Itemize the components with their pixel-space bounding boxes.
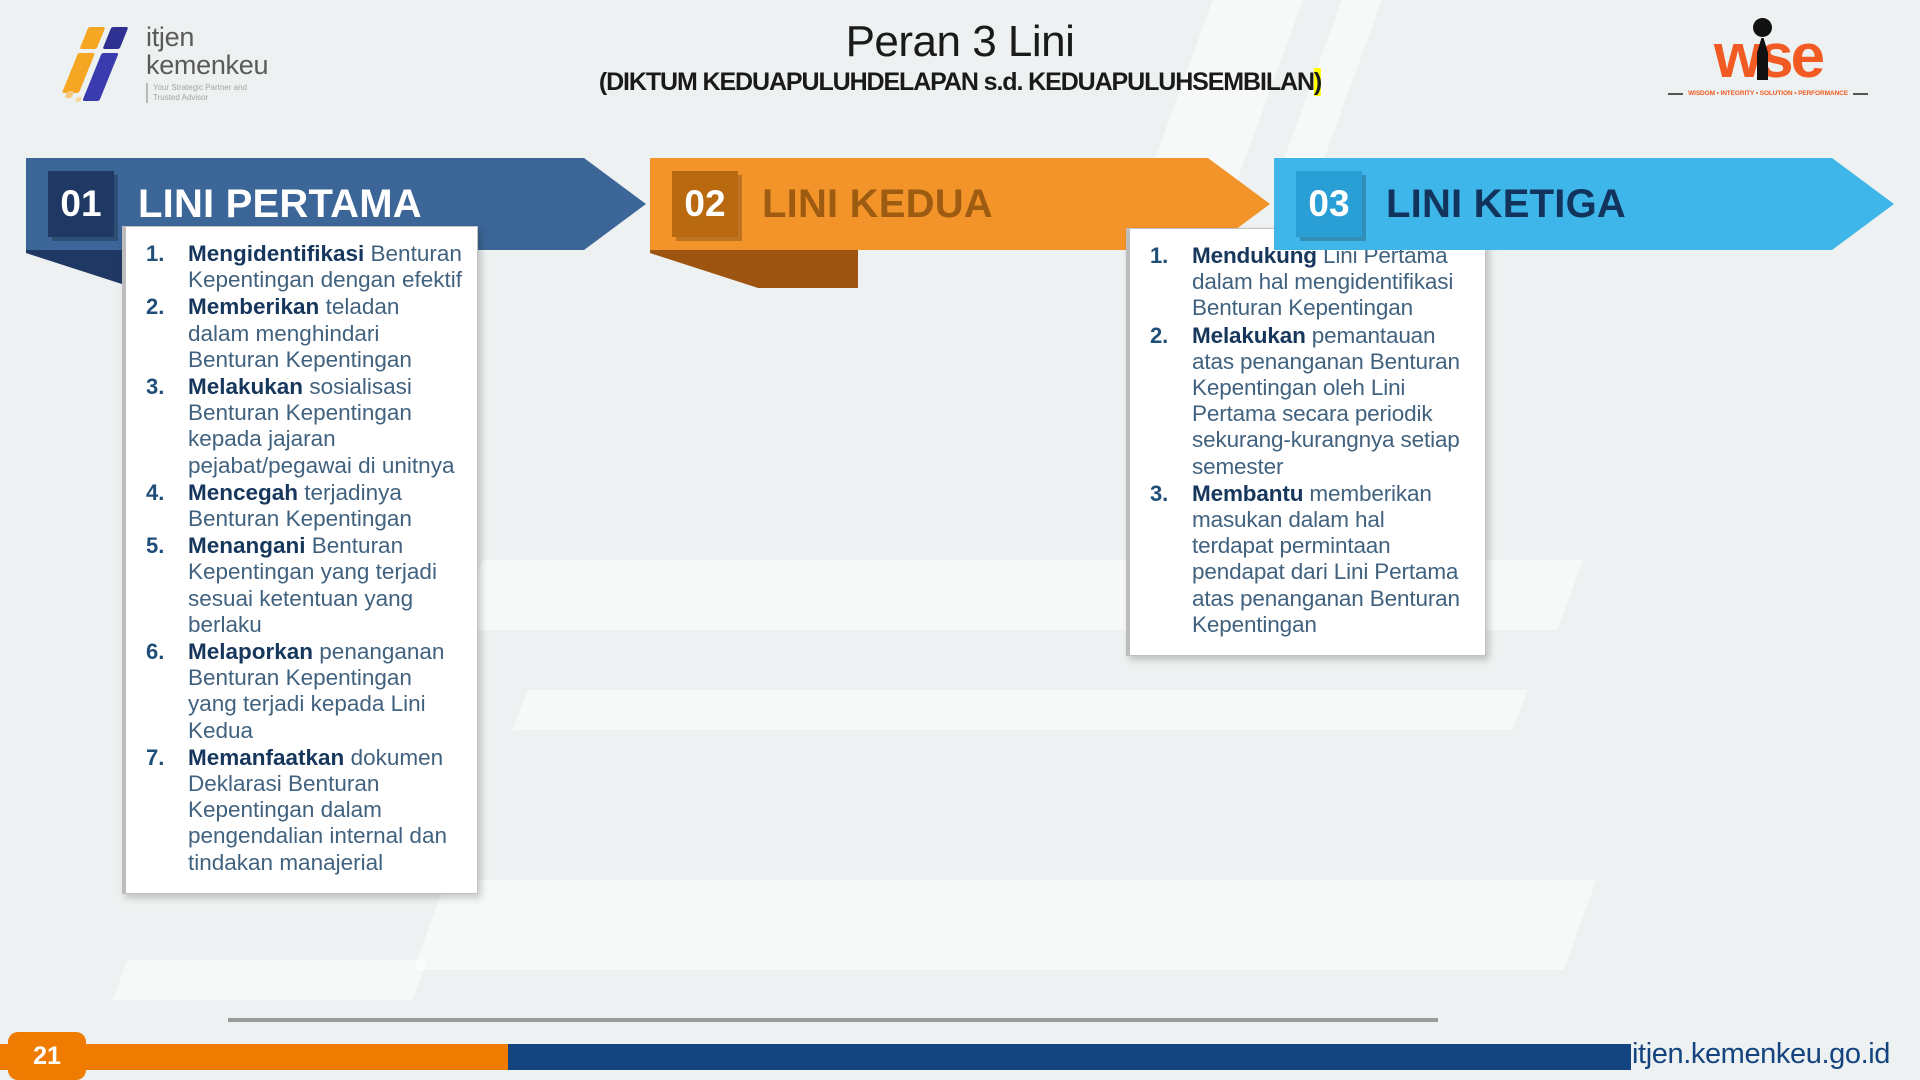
list-lini-kedua: Mendukung Lini Pertama dalam hal mengide…	[1134, 243, 1471, 638]
column-lini-ketiga: 03 LINI KETIGA Melakukan analisis, evalu…	[1274, 158, 1894, 250]
wise-tagline-text: WISDOM • INTEGRITY • SOLUTION • PERFORMA…	[1688, 90, 1848, 97]
banner-number-badge: 01	[48, 171, 114, 237]
itjen-kemenkeu-logo: itjen kemenkeu Your Strategic Partner an…	[62, 24, 268, 103]
list-item: Memberikan teladan dalam menghindari Ben…	[130, 294, 463, 373]
footer-divider	[228, 1018, 1438, 1022]
logo-line-1: itjen	[146, 24, 268, 52]
logo-tagline-line-1: Your Strategic Partner and	[153, 83, 268, 93]
list-item-lead: Membantu	[1192, 481, 1303, 506]
list-item: Mengidentifikasi Benturan Kepentingan de…	[130, 241, 463, 293]
page-subtitle: (DIKTUM KEDUAPULUHDELAPAN s.d. KEDUAPULU…	[599, 68, 1321, 97]
slide-header: itjen kemenkeu Your Strategic Partner an…	[0, 0, 1920, 132]
list-item: Memanfaatkan dokumen Deklarasi Benturan …	[130, 745, 463, 876]
logo-tagline: Your Strategic Partner and Trusted Advis…	[146, 83, 268, 103]
itjen-logo-wordmark: itjen kemenkeu Your Strategic Partner an…	[146, 24, 268, 103]
wise-logo: wse WISDOM • INTEGRITY • SOLUTION • PERF…	[1668, 26, 1868, 97]
page-title: Peran 3 Lini	[599, 18, 1321, 66]
column-lini-kedua: 02 LINI KEDUA Mendukung Lini Pertama dal…	[650, 158, 1270, 250]
logo-line-2: kemenkeu	[146, 52, 268, 80]
list-item: Melakukan pemantauan atas penanganan Ben…	[1134, 323, 1471, 480]
list-item-lead: Melaporkan	[188, 639, 313, 664]
list-item-lead: Melakukan	[1192, 323, 1306, 348]
slide-footer: 21 itjen.kemenkeu.go.id	[0, 1018, 1920, 1080]
list-item: Mencegah terjadinya Benturan Kepentingan	[130, 480, 463, 532]
list-item-lead: Memanfaatkan	[188, 745, 344, 770]
site-url: itjen.kemenkeu.go.id	[1632, 1038, 1890, 1071]
page-number-badge: 21	[8, 1032, 86, 1080]
page-subtitle-text: (DIKTUM KEDUAPULUHDELAPAN s.d. KEDUAPULU…	[599, 68, 1314, 96]
logo-tagline-line-2: Trusted Advisor	[153, 93, 268, 103]
list-item: Membantu memberikan masukan dalam hal te…	[1134, 481, 1471, 638]
itjen-logo-mark-icon	[62, 25, 132, 103]
list-item-lead: Memberikan	[188, 294, 319, 319]
list-item: Melakukan sosialisasi Benturan Kepenting…	[130, 374, 463, 479]
footer-bar-blue	[508, 1044, 1631, 1070]
banner-number-badge: 02	[672, 171, 738, 237]
banner-label: LINI KETIGA	[1386, 182, 1626, 227]
banner-lini-ketiga[interactable]: 03 LINI KETIGA	[1274, 158, 1894, 250]
wise-wordmark: wse	[1668, 26, 1868, 88]
banner-fold-decoration	[650, 250, 858, 288]
list-item: Mendukung Lini Pertama dalam hal mengide…	[1134, 243, 1471, 322]
page-subtitle-highlight: )	[1314, 68, 1321, 96]
list-item-lead: Melakukan	[188, 374, 303, 399]
column-lini-pertama: 01 LINI PERTAMA Mengidentifikasi Bentura…	[26, 158, 646, 250]
content-card-lini-kedua: Mendukung Lini Pertama dalam hal mengide…	[1126, 228, 1486, 656]
person-figure-icon	[1751, 18, 1773, 80]
list-item: Menangani Benturan Kepentingan yang terj…	[130, 533, 463, 638]
banner-number-badge: 03	[1296, 171, 1362, 237]
banner-label: LINI KEDUA	[762, 182, 993, 227]
title-block: Peran 3 Lini (DIKTUM KEDUAPULUHDELAPAN s…	[599, 18, 1321, 97]
list-item-lead: Mengidentifikasi	[188, 241, 364, 266]
wise-tagline: WISDOM • INTEGRITY • SOLUTION • PERFORMA…	[1668, 90, 1868, 97]
list-lini-pertama: Mengidentifikasi Benturan Kepentingan de…	[130, 241, 463, 876]
banner-label: LINI PERTAMA	[138, 182, 422, 227]
content-card-lini-pertama: Mengidentifikasi Benturan Kepentingan de…	[122, 226, 478, 894]
list-item-lead: Menangani	[188, 533, 306, 558]
list-item-lead: Mencegah	[188, 480, 298, 505]
list-item: Melaporkan penanganan Benturan Kepenting…	[130, 639, 463, 744]
